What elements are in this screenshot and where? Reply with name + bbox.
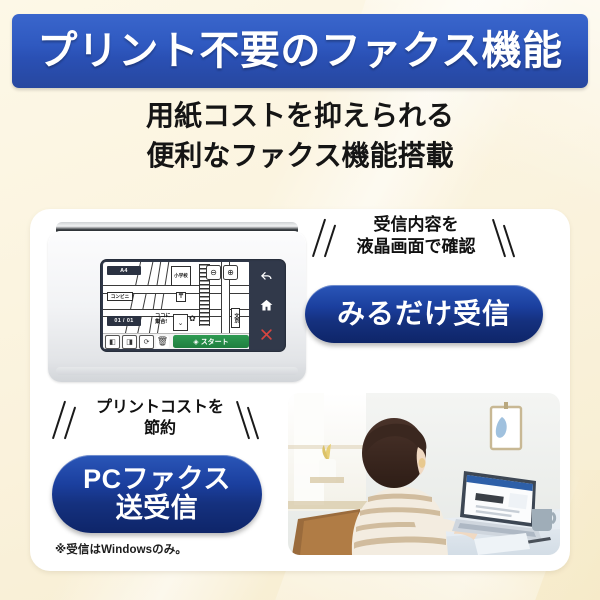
callout-2-line-2: 節約 <box>72 419 248 440</box>
feature-pill-view-only[interactable]: みるだけ受信 <box>305 285 543 343</box>
photo-illustration <box>288 393 560 555</box>
prev-page-icon[interactable]: ◧ <box>105 335 120 349</box>
lcd-screen: 小学校 コンビニ 〒 文京 ココに 集合! ⌄ ✿ A4 01 / 01 ⊖ <box>103 262 251 349</box>
pill-2-line-2: 送受信 <box>83 494 231 523</box>
zoom-out-icon[interactable]: ⊖ <box>206 265 221 280</box>
start-button-label: スタート <box>201 337 229 347</box>
footnote: ※受信はWindowsのみ。 <box>55 541 187 557</box>
subheading-line-2: 便利なファクス機能搭載 <box>0 136 600 176</box>
subheading: 用紙コストを抑えられる 便利なファクス機能搭載 <box>0 96 600 176</box>
lcd-side-panel <box>249 262 283 349</box>
callout-cost-saving: プリントコストを 節約 <box>72 398 248 440</box>
pill-2-line-1: PCファクス <box>83 465 231 494</box>
rotate-icon[interactable]: ⟳ <box>139 335 154 349</box>
zoom-in-icon[interactable]: ⊕ <box>223 265 238 280</box>
callout-1-line-2: 液晶画面で確認 <box>330 236 502 258</box>
lcd-toolbar: ◧ ◨ ⟳ 🗑 ◈ スタート <box>103 333 251 349</box>
map-label-postoffice: 〒 <box>176 292 186 302</box>
printer-body: 小学校 コンビニ 〒 文京 ココに 集合! ⌄ ✿ A4 01 / 01 ⊖ <box>48 231 306 382</box>
map-label-store: コンビニ <box>107 292 133 301</box>
map-dropdown-icon[interactable]: ⌄ <box>173 314 188 331</box>
callout-lcd-check: 受信内容を 液晶画面で確認 <box>330 214 502 258</box>
feature-pill-pc-fax[interactable]: PCファクス 送受信 <box>52 455 262 533</box>
next-page-icon[interactable]: ◨ <box>122 335 137 349</box>
lifestyle-photo <box>288 393 560 555</box>
home-icon[interactable] <box>259 298 274 313</box>
lcd-page-counter-chip: 01 / 01 <box>107 316 141 326</box>
handwriting-line-2: 集合! <box>155 320 171 326</box>
advertisement-panel: プリント不要のファクス機能 用紙コストを抑えられる 便利なファクス機能搭載 <box>0 0 600 600</box>
header-banner: プリント不要のファクス機能 <box>12 14 588 88</box>
callout-2-line-1: プリントコストを <box>72 398 248 419</box>
header-title: プリント不要のファクス機能 <box>37 31 562 71</box>
callout-1-line-1: 受信内容を <box>330 214 502 236</box>
start-diamond-icon: ◈ <box>193 338 198 346</box>
trash-icon[interactable]: 🗑 <box>156 336 169 348</box>
map-label-school: 小学校 <box>171 266 191 286</box>
start-button[interactable]: ◈ スタート <box>173 335 249 348</box>
printer-lcd-panel: 小学校 コンビニ 〒 文京 ココに 集合! ⌄ ✿ A4 01 / 01 ⊖ <box>100 259 286 352</box>
printer-device: 小学校 コンビニ 〒 文京 ココに 集合! ⌄ ✿ A4 01 / 01 ⊖ <box>48 222 306 382</box>
subheading-line-1: 用紙コストを抑えられる <box>0 96 600 136</box>
pill-1-label: みるだけ受信 <box>337 299 511 329</box>
map-handwriting: ココに 集合! <box>155 314 171 326</box>
lcd-paper-size-chip: A4 <box>107 266 141 275</box>
close-x-icon[interactable] <box>259 327 274 342</box>
map-flower-icon: ✿ <box>189 314 196 323</box>
map-road <box>148 262 170 338</box>
map-label-street: 文京 <box>231 308 240 328</box>
back-arrow-icon[interactable] <box>259 269 274 284</box>
